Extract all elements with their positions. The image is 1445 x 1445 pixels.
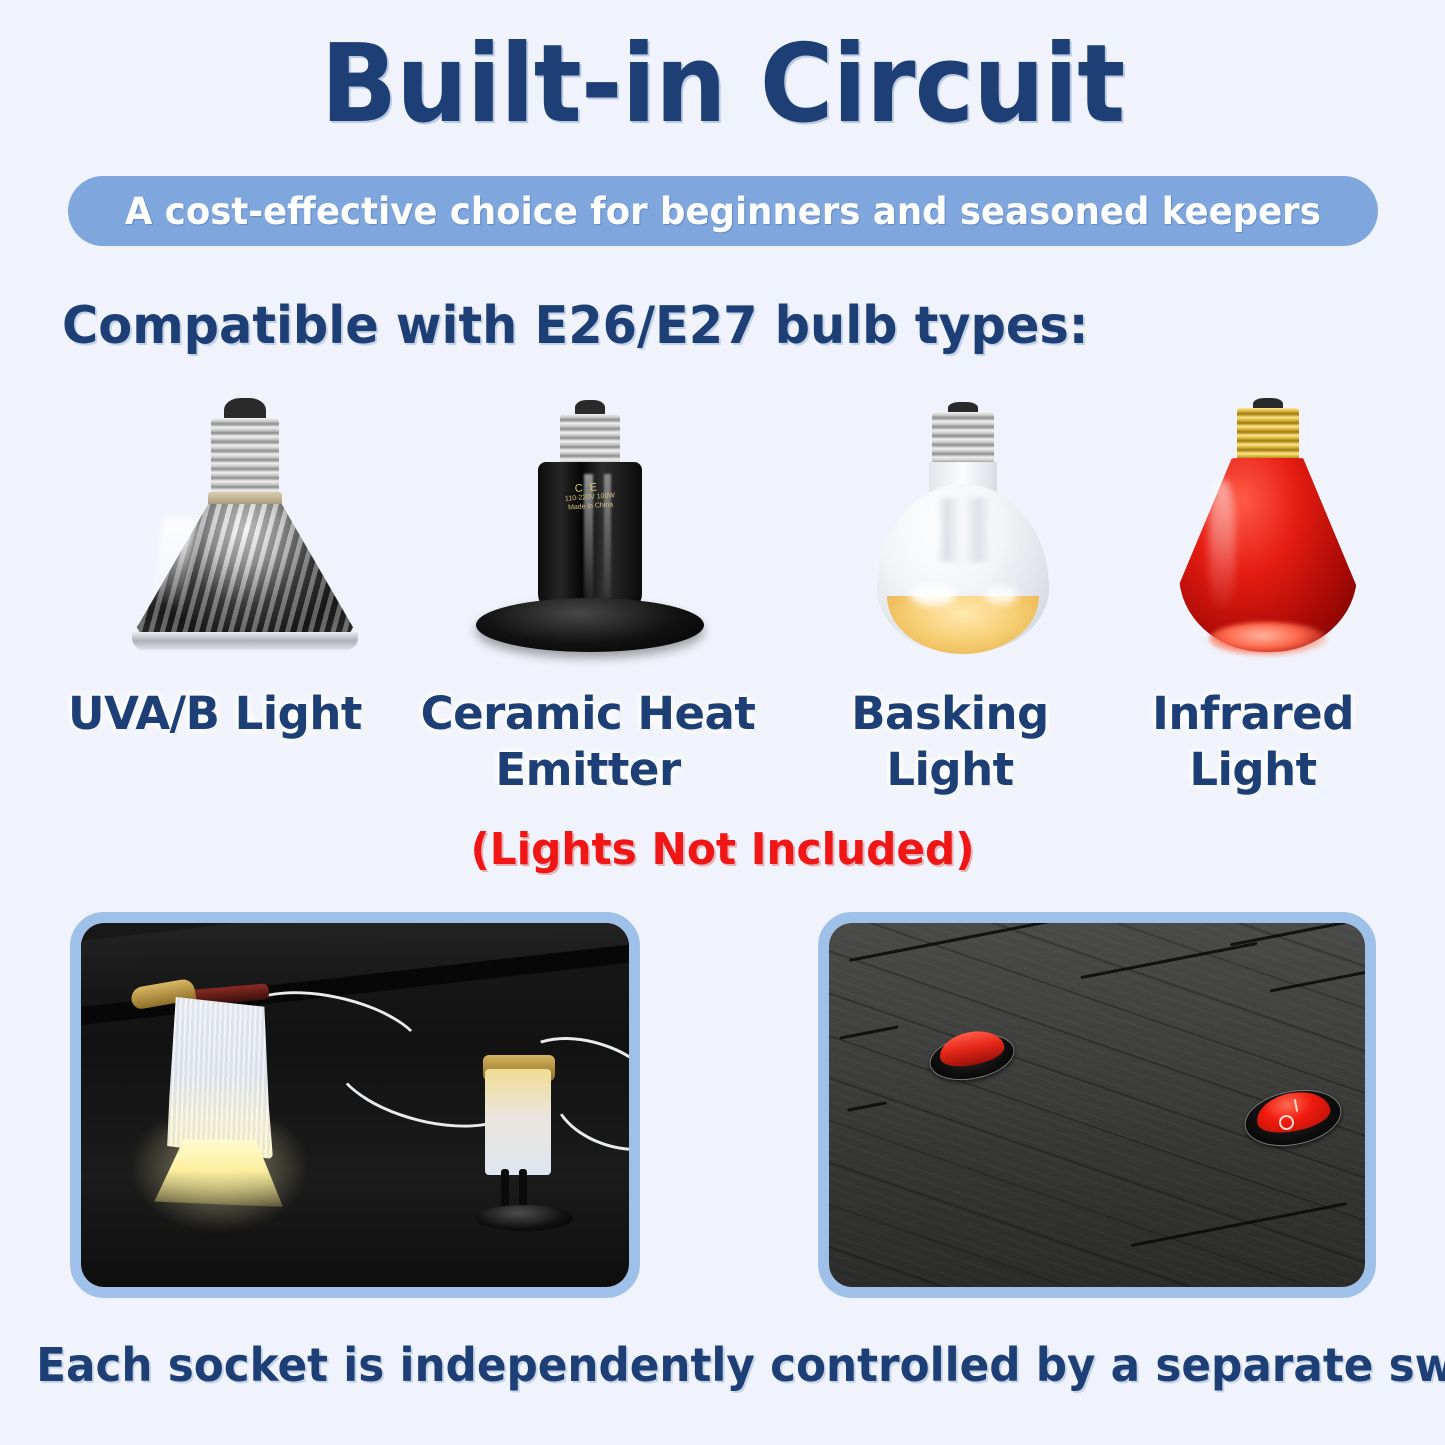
photo-panel-lit-socket [70,912,640,1298]
bulb-label-row: UVA/B Light Ceramic Heat Emitter Basking… [0,686,1445,806]
bulb-item-uvab [60,388,430,678]
page-title: Built-in Circuit [51,28,1395,141]
e27-screw-base [932,412,994,464]
rocker-switch-right[interactable] [1244,1091,1342,1145]
bulb-label-infrared: Infrared Light [1108,686,1398,798]
socket-base-plate [475,1205,573,1231]
rocker-switches-photo [829,923,1365,1287]
infographic-root: Built-in Circuit A cost-effective choice… [0,0,1445,1445]
glass-highlight [910,584,956,606]
surface-groove [1080,942,1257,979]
bulb-label-uvab: UVA/B Light [20,686,410,742]
surface-groove [847,1101,887,1112]
surface-groove [849,923,1075,962]
bulb-item-ceramic-heat-emitter: CE 110-220V 100W Made in China [440,388,740,678]
subtitle-banner: A cost-effective choice for beginners an… [68,176,1378,246]
bulb-label-basking: Basking Light [810,686,1090,798]
second-lamp-socket [481,1055,571,1235]
ceramic-heat-emitter-icon: CE 110-220V 100W Made in China [440,388,740,678]
surface-groove [1270,969,1365,993]
glowing-bulb-body [165,997,273,1159]
reflector-spot-bulb-icon [60,388,430,678]
subtitle-text: A cost-effective choice for beginners an… [125,190,1321,233]
bulb-item-infrared [1135,388,1400,678]
footer-caption: Each socket is independently controlled … [36,1338,1409,1392]
red-infrared-bulb-icon [1135,388,1400,678]
e27-screw-base [560,414,620,466]
lit-socket-photo [81,923,629,1287]
surface-groove [839,1025,898,1039]
inner-glow [1209,622,1327,656]
e27-screw-base-gold [1237,408,1299,462]
glass-highlight [1209,480,1235,610]
frosted-basking-bulb-icon [830,388,1095,678]
socket-body [485,1069,551,1175]
bulb-label-ceramic-heat-emitter: Ceramic Heat Emitter [408,686,768,798]
rocker-switch-left[interactable] [929,1035,1015,1079]
bulb-item-basking [830,388,1095,678]
emitter-flange [476,598,704,652]
lights-not-included-note: (Lights Not Included) [29,824,1416,875]
warm-glow [887,596,1039,654]
reflector-rim [132,632,358,650]
bulb-gallery: CE 110-220V 100W Made in China [0,388,1445,678]
glass-highlight-secondary [984,586,1018,604]
photo-panel-switches [818,912,1376,1298]
filament-shadow [936,498,990,562]
surface-groove [1131,1202,1348,1247]
compatibility-heading: Compatible with E26/E27 bulb types: [62,296,1089,356]
lit-lamp-socket [143,983,267,1173]
e27-screw-base [211,418,279,494]
